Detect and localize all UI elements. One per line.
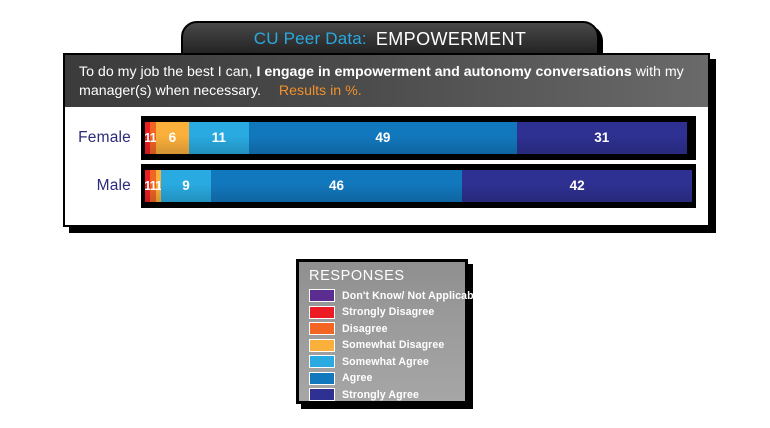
legend-item: Somewhat Disagree [309, 338, 457, 354]
legend-item-label: Somewhat Disagree [342, 339, 444, 351]
legend-item-label: Strongly Disagree [342, 306, 434, 318]
legend-item-label: Don't Know/ Not Applicable [342, 290, 483, 302]
bar-segment: 42 [462, 170, 692, 202]
bar-segment: 49 [249, 122, 517, 154]
legend-title: RESPONSES [309, 268, 457, 284]
legend-color-swatch [309, 289, 335, 302]
bar-segment: 46 [211, 170, 463, 202]
bar-segment: 31 [517, 122, 687, 154]
bar-track: 11194642 [145, 170, 692, 202]
bar-row: Male11194642 [65, 163, 708, 209]
legend-color-swatch [309, 339, 335, 352]
bar-row-label: Female [65, 129, 141, 147]
bar-frame: 116114931 [141, 116, 696, 160]
bar-frame: 11194642 [141, 164, 696, 208]
legend-color-swatch [309, 322, 335, 335]
bar-segment-value: 11 [212, 131, 226, 145]
bar-segment-value: 9 [182, 179, 190, 193]
legend-box: RESPONSES Don't Know/ Not ApplicableStro… [296, 259, 468, 404]
legend-item: Strongly Disagree [309, 305, 457, 321]
legend-color-swatch [309, 306, 335, 319]
results-units-note: Results in %. [279, 83, 362, 99]
bar-row: Female116114931 [65, 115, 708, 161]
legend-item-label: Strongly Agree [342, 389, 419, 401]
bar-segment: 9 [161, 170, 210, 202]
title-topic: EMPOWERMENT [376, 29, 526, 50]
bar-track: 116114931 [145, 122, 692, 154]
legend-item-list: Don't Know/ Not ApplicableStrongly Disag… [309, 288, 457, 403]
legend-item: Somewhat Agree [309, 354, 457, 370]
bar-segment: 6 [156, 122, 189, 154]
legend-color-swatch [309, 388, 335, 401]
bar-segment-value: 42 [570, 179, 585, 193]
question-emphasis-1: I engage in empowerment and autonomy [256, 64, 531, 80]
chart-panel: To do my job the best I can, I engage in… [63, 53, 710, 227]
legend-color-swatch [309, 372, 335, 385]
question-emphasis-2: conversations [536, 64, 632, 80]
bar-segment-empty [687, 122, 692, 154]
legend-item-label: Disagree [342, 323, 388, 335]
legend-item-label: Somewhat Agree [342, 356, 429, 368]
title-tab: CU Peer Data: EMPOWERMENT [181, 21, 599, 57]
question-strip: To do my job the best I can, I engage in… [65, 55, 708, 107]
bar-segment-value: 49 [375, 131, 390, 145]
legend-item-label: Agree [342, 372, 373, 384]
bar-segment-value: 31 [594, 131, 609, 145]
stacked-bar-chart: Female116114931Male11194642 [65, 107, 708, 225]
bar-segment-value: 1 [156, 180, 161, 193]
legend-item: Don't Know/ Not Applicable [309, 288, 457, 304]
legend-item: Disagree [309, 321, 457, 337]
question-lead: To do my job the best I can, [79, 64, 253, 80]
title-brand: CU Peer Data: [254, 29, 367, 49]
legend-color-swatch [309, 355, 335, 368]
legend-item: Agree [309, 371, 457, 387]
bar-segment-value: 46 [329, 179, 344, 193]
bar-segment: 11 [189, 122, 249, 154]
bar-segment-value: 6 [169, 131, 177, 145]
bar-row-label: Male [65, 177, 141, 195]
legend-item: Strongly Agree [309, 387, 457, 403]
bar-segment-value: 1 [150, 132, 155, 145]
